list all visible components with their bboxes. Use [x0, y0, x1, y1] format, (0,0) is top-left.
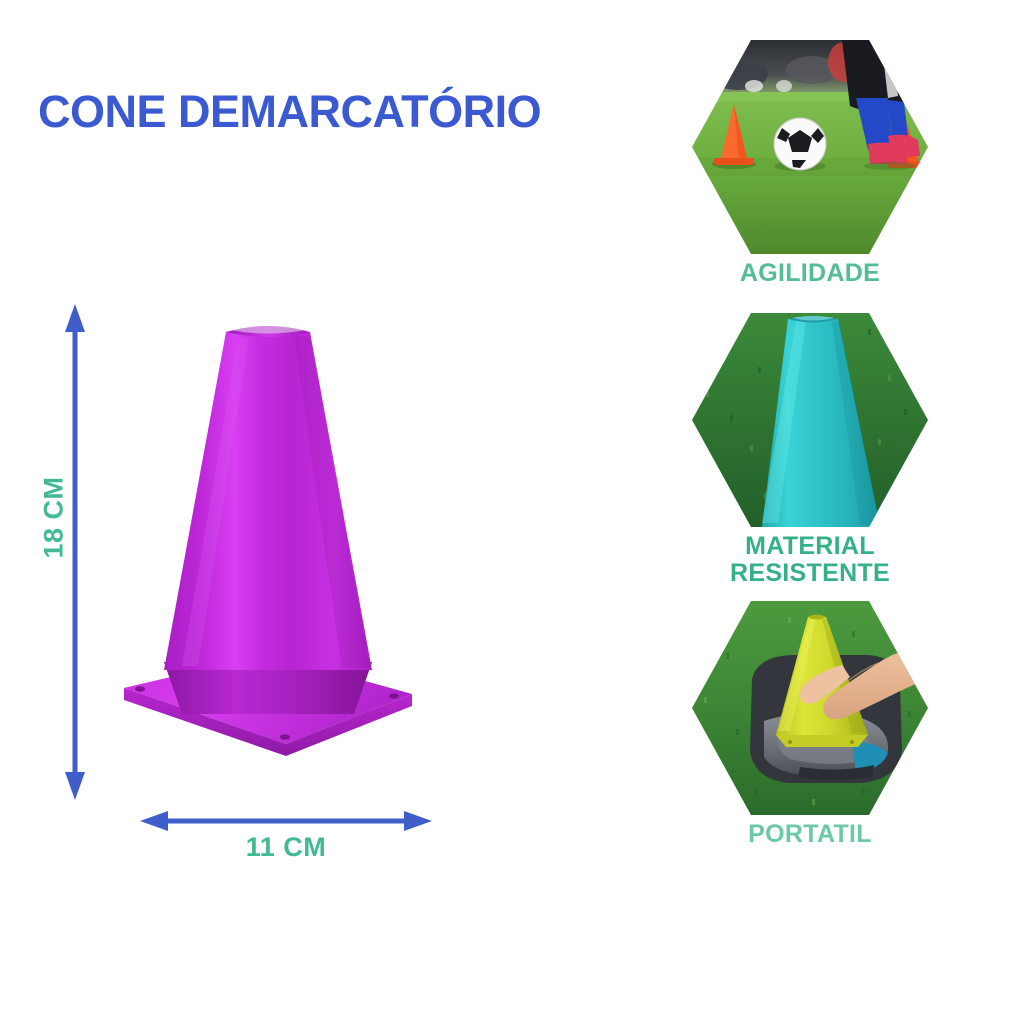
base-hole-front [280, 734, 290, 739]
feature-label-portatil: PORTATIL [660, 821, 960, 848]
width-dimension-arrow [138, 810, 434, 832]
page-title: CONE DEMARCATÓRIO [38, 86, 541, 138]
width-dimension-label: 11 CM [138, 832, 434, 863]
feature-portatil: PORTATIL [660, 601, 960, 848]
hexagon-mask [692, 40, 928, 254]
scene-teal-cone-on-turf [692, 313, 928, 527]
feature-hexagon-portatil [692, 601, 928, 815]
feature-agilidade: AGILIDADE [660, 40, 960, 287]
base-hole-left [135, 686, 145, 691]
feature-list: AGILIDADE [660, 40, 960, 852]
base-hole-right [389, 693, 399, 698]
feature-label-agilidade: AGILIDADE [660, 260, 960, 287]
feature-material-resistente: MATERIAL RESISTENTE [660, 313, 960, 587]
feature-label-material-resistente: MATERIAL RESISTENTE [660, 533, 960, 587]
scene-hand-placing-cone-in-bag [692, 601, 928, 815]
scene-soccer-field-cones-ball-player [692, 40, 928, 254]
height-dimension-label: 18 CM [39, 458, 70, 578]
product-image-cone [118, 310, 418, 780]
feature-hexagon-agilidade [692, 40, 928, 254]
feature-hexagon-material-resistente [692, 313, 928, 527]
product-display-panel: 18 CM [0, 280, 640, 900]
scene-soccer-ball [774, 118, 826, 171]
hexagon-mask [692, 313, 928, 527]
hexagon-mask [692, 601, 928, 815]
